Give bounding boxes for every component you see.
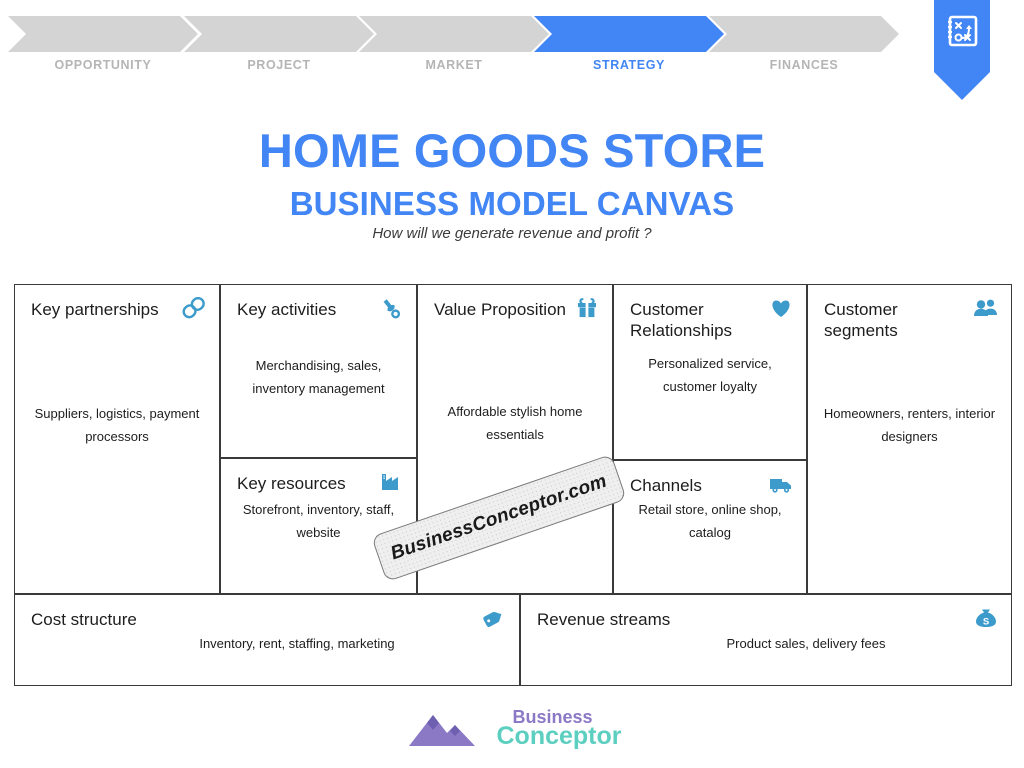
- cell-title-cost-structure: Cost structure: [31, 609, 473, 630]
- delivery-truck-icon: [768, 473, 794, 497]
- canvas-cell-revenue-streams[interactable]: Revenue streams S Product sales, deliver…: [520, 594, 1012, 686]
- cell-body-revenue-streams: Product sales, delivery fees: [681, 633, 931, 656]
- cell-body-key-partnerships: Suppliers, logistics, payment processors: [27, 403, 207, 449]
- canvas-cell-key-partnerships[interactable]: Key partnerships Suppliers, logistics, p…: [14, 284, 220, 594]
- cell-body-cost-structure: Inventory, rent, staffing, marketing: [165, 633, 429, 656]
- price-tag-icon: [481, 607, 507, 631]
- logo-word-conceptor: Conceptor: [497, 725, 622, 748]
- step-finances[interactable]: FINANCES: [709, 16, 899, 52]
- cell-title-value-proposition: Value Proposition: [434, 299, 566, 320]
- step-shape-market: [359, 16, 549, 52]
- step-opportunity[interactable]: OPPORTUNITY: [8, 16, 198, 52]
- strategy-marker-badge: [934, 0, 990, 100]
- cell-title-key-partnerships: Key partnerships: [31, 299, 173, 320]
- cell-title-customer-relationships: Customer Relationships: [630, 299, 760, 342]
- cell-title-key-activities: Key activities: [237, 299, 370, 320]
- page-title: HOME GOODS STORE: [0, 126, 1024, 175]
- canvas-cell-customer-relationships[interactable]: Customer Relationships Personalized serv…: [613, 284, 807, 460]
- canvas-cell-cost-structure[interactable]: Cost structure Inventory, rent, staffing…: [14, 594, 520, 686]
- strategy-playbook-icon: [945, 14, 979, 48]
- step-project[interactable]: PROJECT: [184, 16, 374, 52]
- svg-text:S: S: [983, 616, 989, 627]
- title-block: HOME GOODS STORE BUSINESS MODEL CANVAS H…: [0, 126, 1024, 242]
- heart-icon: [768, 297, 794, 321]
- step-shape-finances: [709, 16, 899, 52]
- step-label-strategy: STRATEGY: [534, 58, 724, 72]
- cell-title-revenue-streams: Revenue streams: [537, 609, 965, 630]
- step-label-market: MARKET: [359, 58, 549, 72]
- money-bag-icon: S: [973, 607, 999, 631]
- shovel-icon: [378, 297, 404, 321]
- canvas-cell-customer-segments[interactable]: Customer segments Homeowners, renters, i…: [807, 284, 1012, 594]
- step-strategy[interactable]: STRATEGY: [534, 16, 724, 52]
- step-label-opportunity: OPPORTUNITY: [8, 58, 198, 72]
- cell-title-key-resources: Key resources: [237, 473, 370, 494]
- chain-link-icon: [181, 297, 207, 321]
- page-subtitle: BUSINESS MODEL CANVAS: [0, 185, 1024, 223]
- gift-icon: [574, 297, 600, 321]
- step-shape-project: [184, 16, 374, 52]
- step-label-finances: FINANCES: [709, 58, 899, 72]
- cell-body-value-proposition: Affordable stylish home essentials: [430, 401, 600, 447]
- step-shape-strategy: [534, 16, 724, 52]
- people-group-icon: [973, 297, 999, 321]
- step-label-project: PROJECT: [184, 58, 374, 72]
- business-model-canvas-grid: Key partnerships Suppliers, logistics, p…: [14, 284, 1012, 686]
- cell-body-customer-segments: Homeowners, renters, interior designers: [820, 403, 999, 449]
- footer-logo: Business Conceptor: [0, 702, 1024, 754]
- cell-title-customer-segments: Customer segments: [824, 299, 965, 342]
- canvas-cell-key-activities[interactable]: Key activities Merchandising, sales, inv…: [220, 284, 417, 458]
- step-progress-nav: OPPORTUNITY PROJECT MARKET STRATEGY FINA…: [0, 0, 1024, 110]
- cell-body-customer-relationships: Personalized service, customer loyalty: [626, 353, 794, 399]
- cell-body-key-activities: Merchandising, sales, inventory manageme…: [233, 355, 404, 401]
- cell-title-channels: Channels: [630, 475, 760, 496]
- page-tagline: How will we generate revenue and profit …: [0, 225, 1024, 242]
- step-shape-opportunity: [8, 16, 198, 52]
- canvas-cell-channels[interactable]: Channels Retail store, online shop, cata…: [613, 460, 807, 594]
- cell-body-channels: Retail store, online shop, catalog: [626, 499, 794, 545]
- step-market[interactable]: MARKET: [359, 16, 549, 52]
- factory-icon: [378, 471, 404, 495]
